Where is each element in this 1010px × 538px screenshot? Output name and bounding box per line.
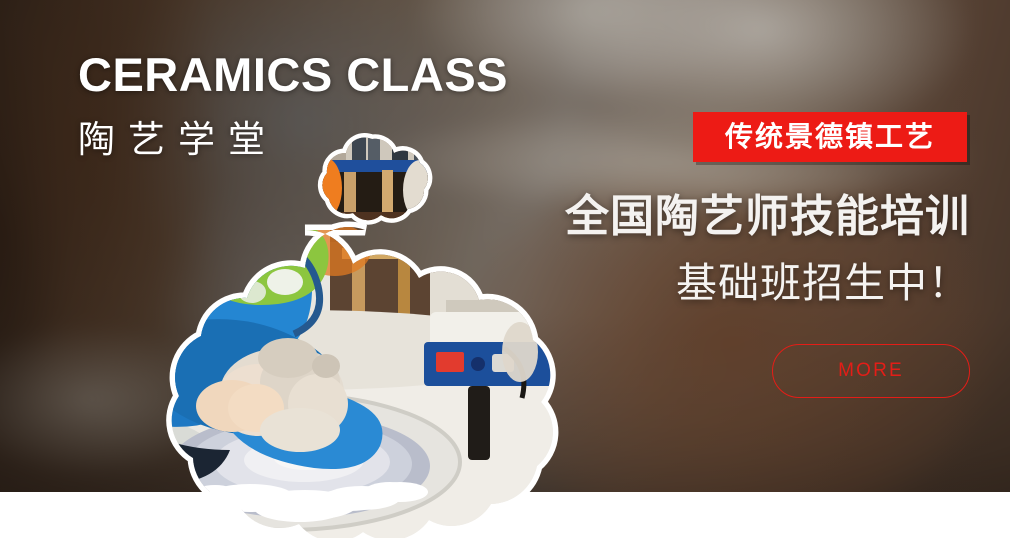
photo-bubble-child-pottery-wheel: [40, 210, 574, 538]
promo-headline-secondary: 基础班招生中！: [545, 261, 970, 307]
headline-block: CERAMICS CLASS 陶艺学堂: [78, 50, 508, 163]
ceramics-class-banner: CERAMICS CLASS 陶艺学堂 传统景德镇工艺 全国陶艺师技能培训 基础…: [0, 0, 1010, 538]
headline-chinese: 陶艺学堂: [78, 109, 508, 163]
cta-row: MORE: [545, 344, 970, 398]
more-button[interactable]: MORE: [772, 344, 970, 398]
promo-block: 传统景德镇工艺 全国陶艺师技能培训 基础班招生中！ MORE: [545, 112, 970, 398]
headline-english: CERAMICS CLASS: [78, 50, 508, 100]
tradition-badge: 传统景德镇工艺: [693, 112, 967, 162]
promo-headline-primary: 全国陶艺师技能培训: [545, 192, 970, 241]
